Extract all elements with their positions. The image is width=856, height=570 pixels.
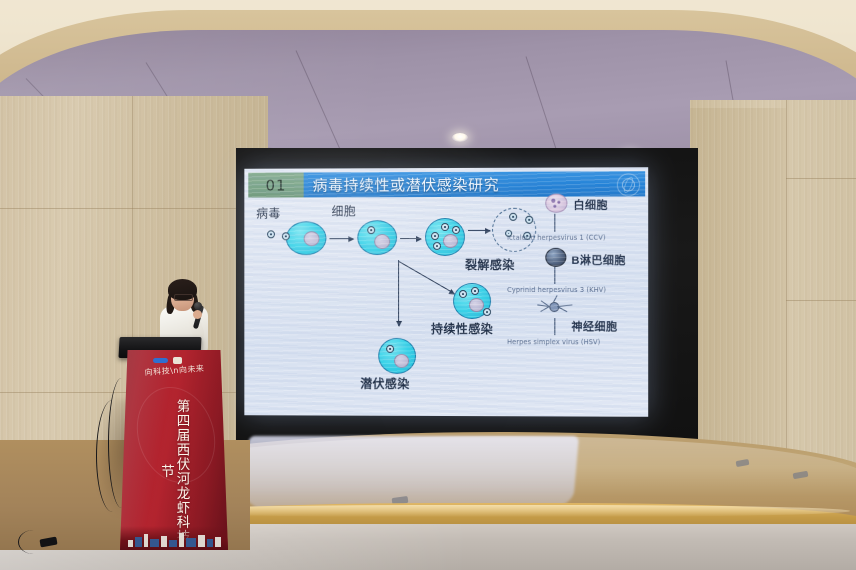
microphone-head bbox=[194, 302, 202, 310]
neuron-icon bbox=[537, 296, 571, 316]
flow-arrow bbox=[329, 238, 353, 239]
white-blood-cell-icon bbox=[545, 194, 567, 213]
virus-name-2: Cyprinid herpesvirus 3 (KHV) bbox=[507, 286, 606, 294]
virus-particle-icon bbox=[267, 230, 275, 238]
lytic-infection-label: 裂解感染 bbox=[465, 256, 515, 273]
virus-particle-icon bbox=[282, 232, 290, 240]
slide-number-badge: 01 bbox=[248, 173, 303, 198]
speaker-glasses bbox=[174, 294, 193, 301]
corner-wall bbox=[690, 108, 786, 478]
virus-name-1: Ictalurid herpesvirus 1 (CCV) bbox=[507, 234, 606, 242]
virus-header-label: 病毒 bbox=[256, 204, 281, 221]
virus-particle-icon bbox=[433, 242, 441, 250]
connector-line bbox=[554, 318, 555, 335]
podium-event-title: 第四届西伏河龙虾科技节 bbox=[159, 396, 190, 546]
virus-particle-icon bbox=[483, 308, 491, 316]
cell-nucleus bbox=[394, 354, 409, 368]
cell-nucleus bbox=[374, 234, 390, 249]
presentation-slide: 01 病毒持续性或潜伏感染研究 病毒 细胞 裂解感染 bbox=[244, 167, 648, 417]
virus-name-3: Herpes simplex virus (HSV) bbox=[507, 338, 600, 346]
virus-particle-icon bbox=[441, 223, 449, 231]
cell-nucleus bbox=[304, 231, 320, 246]
sponsor-logo-icon bbox=[153, 358, 168, 363]
cell-header-label: 细胞 bbox=[331, 202, 356, 219]
sponsor-logo-icon bbox=[173, 357, 182, 364]
host-cell-label-1: 白细胞 bbox=[573, 197, 607, 213]
slide-title-bar: 01 病毒持续性或潜伏感染研究 bbox=[248, 171, 645, 197]
virus-particle-icon bbox=[386, 345, 394, 353]
virus-particle-icon bbox=[471, 287, 479, 295]
power-cable bbox=[96, 400, 129, 512]
virus-particle-icon bbox=[431, 232, 439, 240]
host-cell-label-3: 神经细胞 bbox=[571, 318, 617, 334]
connector-line bbox=[554, 214, 555, 232]
persistent-infection-label: 持续性感染 bbox=[431, 320, 493, 337]
cell-nucleus bbox=[469, 298, 484, 312]
slide-title: 病毒持续性或潜伏感染研究 bbox=[313, 174, 500, 196]
power-cable bbox=[18, 530, 49, 554]
flow-arrow bbox=[468, 230, 490, 231]
b-lymphocyte-icon bbox=[545, 248, 566, 267]
branch-line-diagonal bbox=[399, 261, 455, 294]
connector-line bbox=[554, 267, 555, 284]
virus-particle-icon bbox=[459, 290, 467, 298]
virus-particle-icon bbox=[367, 226, 375, 234]
latent-infection-label: 潜伏感染 bbox=[360, 375, 409, 392]
podium: 向科技\n向未来 第四届西伏河龙虾科技节 bbox=[120, 350, 228, 550]
flow-arrow bbox=[400, 238, 421, 239]
institution-logo-watermark-icon bbox=[617, 173, 640, 196]
host-cell-label-2: B淋巴细胞 bbox=[571, 252, 625, 268]
virus-particle-icon bbox=[452, 226, 460, 234]
virus-particle-icon bbox=[509, 213, 517, 221]
speaker-hand bbox=[193, 310, 202, 319]
virus-particle-icon bbox=[525, 216, 533, 224]
conference-hall-photo: 01 病毒持续性或潜伏感染研究 病毒 细胞 裂解感染 bbox=[0, 0, 856, 570]
branch-line-vertical bbox=[398, 260, 399, 326]
podium-sponsor-logos bbox=[153, 356, 197, 364]
city-skyline-graphic-icon bbox=[124, 530, 224, 547]
ceiling-downlight bbox=[452, 133, 468, 142]
cell-nucleus bbox=[443, 234, 458, 248]
